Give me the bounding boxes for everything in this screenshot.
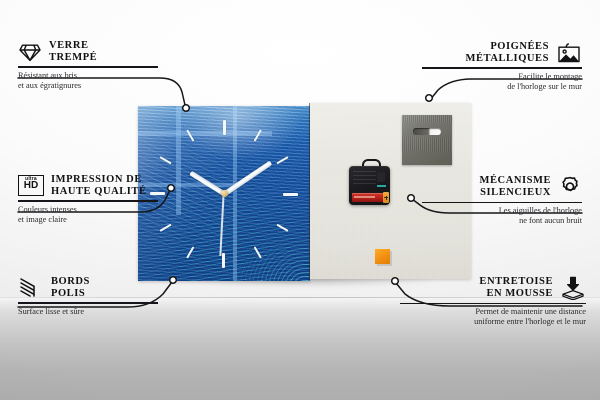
foam-spacer-icon	[560, 276, 586, 300]
callout-title-line-1: IMPRESSION DE	[51, 174, 147, 186]
callout-sub-line-2: uniforme entre l'horloge et le mur	[390, 317, 586, 327]
callout-title-line-2: SILENCIEUX	[480, 187, 551, 199]
mechanism-stripe	[377, 185, 386, 187]
callout-mecanisme-silencieux: MÉCANISME SILENCIEUX Les aiguilles de l'…	[412, 175, 582, 226]
hands-center-cap	[221, 190, 228, 197]
mechanism-button	[377, 172, 385, 182]
diamond-icon	[18, 42, 42, 62]
clock-mechanism	[349, 165, 390, 205]
callout-entretoise-en-mousse: ENTRETOISE EN MOUSSE Permet de maintenir…	[390, 276, 586, 327]
callout-sub-line-2: et image claire	[18, 215, 168, 225]
gear-icon	[558, 175, 582, 199]
callout-impression-haute-qualite: ultra HD IMPRESSION DE HAUTE QUALITÉ Cou…	[18, 174, 168, 225]
foam-spacer	[375, 249, 390, 264]
callout-bords-polis: BORDS POLIS Surface lisse et sûre	[18, 276, 168, 317]
callout-sub-line-2: et aux égratignures	[18, 81, 168, 91]
battery	[352, 193, 383, 202]
infographic-canvas: VERRE TREMPÉ Résistant aux bris et aux é…	[0, 0, 600, 400]
callout-sub-line-2: de l'horloge sur le mur	[412, 82, 582, 92]
mechanism-label-emboss	[353, 171, 376, 187]
callout-verre-trempe: VERRE TREMPÉ Résistant aux bris et aux é…	[18, 40, 168, 91]
callout-sub-line-1: Surface lisse et sûre	[18, 307, 168, 317]
ultra-hd-icon: ultra HD	[18, 175, 44, 196]
callout-title-line-1: VERRE	[49, 40, 97, 52]
picture-hanger-icon	[556, 42, 582, 64]
callout-title-line-2: MÉTALLIQUES	[466, 53, 549, 65]
callout-title-line-2: HAUTE QUALITÉ	[51, 186, 147, 198]
callout-title-line-2: EN MOUSSE	[479, 288, 553, 300]
metal-hanger-plate	[402, 115, 452, 165]
callout-rule	[18, 200, 158, 201]
callout-sub-line-1: Les aiguilles de l'horloge	[412, 206, 582, 216]
callout-title-line-1: ENTRETOISE	[479, 276, 553, 288]
callout-sub-line-2: ne font aucun bruit	[412, 216, 582, 226]
callout-rule	[400, 303, 586, 304]
callout-rule	[422, 202, 582, 203]
callout-sub-line-1: Facilite le montage	[412, 72, 582, 82]
callout-title-line-1: POIGNÉES	[466, 41, 549, 53]
callout-rule	[18, 66, 158, 67]
mechanism-housing	[349, 166, 390, 205]
callout-sub-line-1: Résistant aux bris	[18, 71, 168, 81]
callout-sub-line-1: Couleurs intenses	[18, 205, 168, 215]
callout-title-line-2: POLIS	[51, 288, 90, 300]
callout-rule	[422, 67, 582, 68]
battery-positive-terminal	[383, 192, 389, 203]
ultra-hd-icon-main-text: HD	[19, 181, 43, 191]
callout-sub-line-1: Permet de maintenir une distance	[390, 307, 586, 317]
hanger-keyhole-slot	[413, 128, 441, 135]
callout-title-line-2: TREMPÉ	[49, 52, 97, 64]
callout-poignees-metalliques: POIGNÉES MÉTALLIQUES Facilite le montage…	[412, 41, 582, 92]
callout-title-line-1: BORDS	[51, 276, 90, 288]
callout-rule	[18, 302, 158, 303]
callout-title-line-1: MÉCANISME	[480, 175, 551, 187]
polished-edges-icon	[18, 277, 44, 298]
